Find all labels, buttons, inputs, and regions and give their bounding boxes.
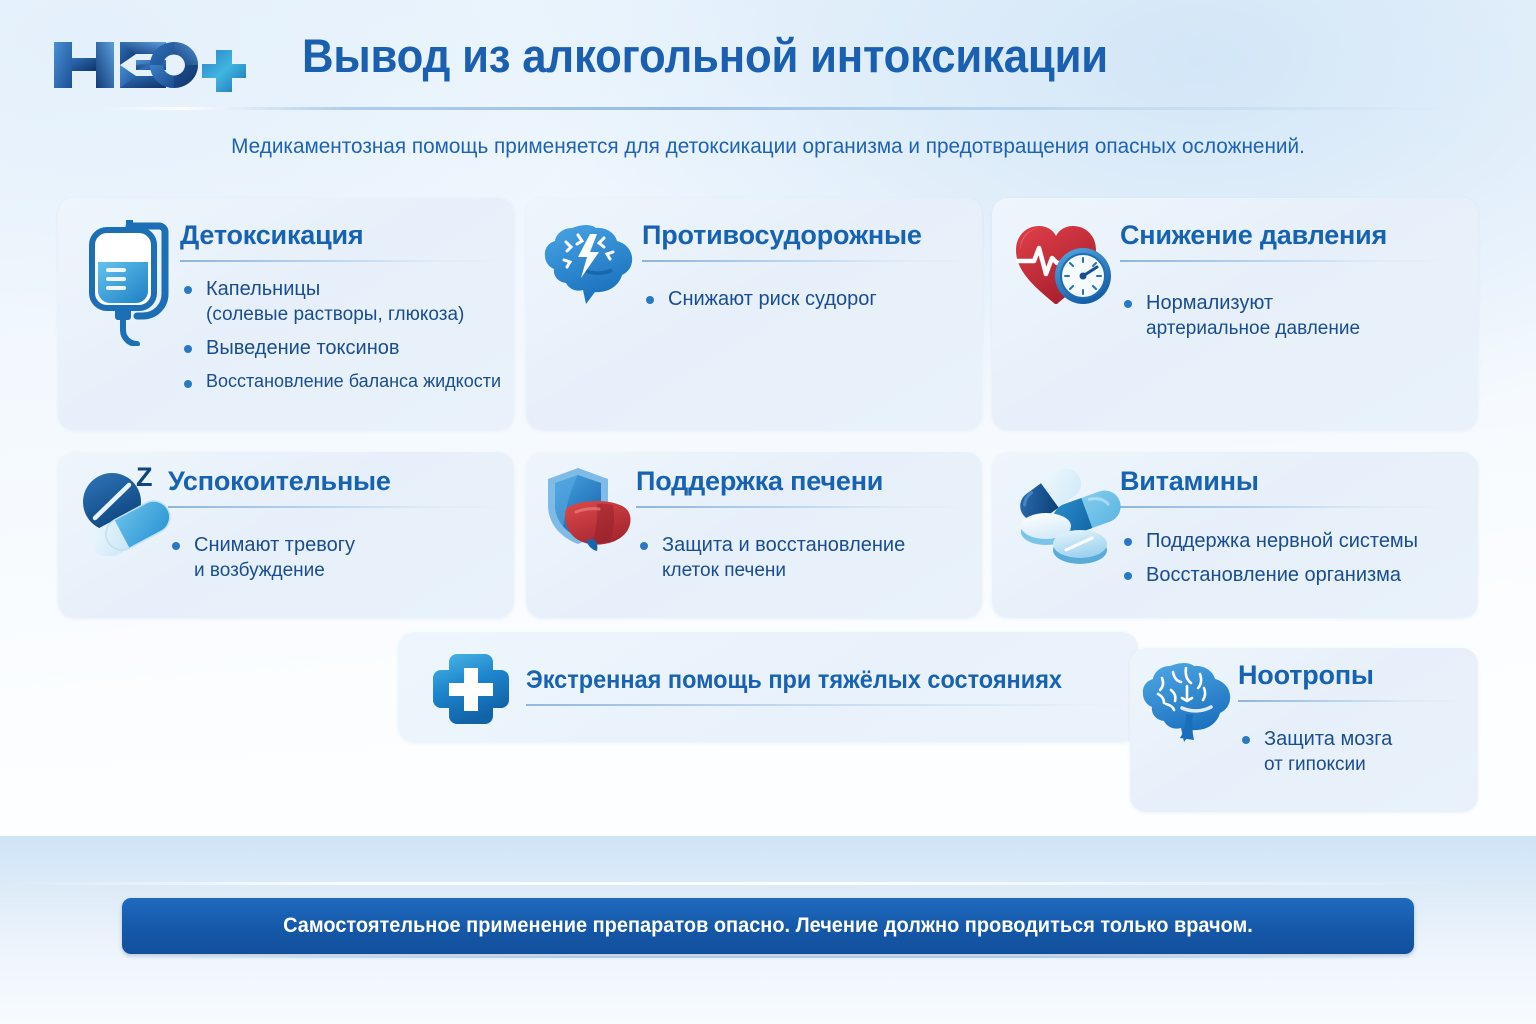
card-sedatives[interactable]: Z Успокоительные Снимают тревогу и возбу… [58, 452, 514, 618]
list-item: Снижают риск судорог [642, 286, 972, 312]
card-divider [1120, 260, 1454, 262]
card-anticonvulsants[interactable]: Противосудорожные Снижают риск судорог [526, 198, 982, 430]
warning-text: Самостоятельное применение препаратов оп… [154, 898, 1381, 954]
list-item: Нормализуют артериальное давление [1120, 290, 1460, 341]
card-title: Противосудорожные [642, 220, 922, 251]
page-subtitle: Медикаментозная помощь применяется для д… [27, 134, 1509, 159]
medical-cross-icon [430, 652, 512, 731]
card-vitamins[interactable]: Витамины Поддержка нервной системы Восст… [992, 452, 1478, 618]
header-divider [100, 107, 1460, 110]
card-title: Детоксикация [180, 220, 363, 251]
card-title: Успокоительные [168, 466, 391, 497]
card-bullets: Снижают риск судорог [642, 286, 972, 320]
card-title: Снижение давления [1120, 220, 1387, 251]
card-blood-pressure[interactable]: Снижение давления Нормализуют артериальн… [992, 198, 1478, 430]
emergency-divider [526, 704, 1126, 706]
card-divider [642, 260, 978, 262]
brain-lightning-icon [542, 216, 646, 321]
shield-liver-icon [540, 462, 644, 563]
warning-banner: Самостоятельное применение препаратов оп… [122, 898, 1414, 954]
page-header: Вывод из алкогольной интоксикации [50, 26, 1486, 108]
page-title: Вывод из алкогольной интоксикации [302, 28, 1108, 83]
list-item: Капельницы (солевые растворы, глюкоза) [180, 276, 510, 327]
pills-icon [998, 458, 1124, 573]
card-bullets: Капельницы (солевые растворы, глюкоза) В… [180, 276, 510, 402]
brand-logo [50, 34, 248, 96]
card-liver-support[interactable]: Поддержка печени Защита и восстановление… [526, 452, 982, 618]
card-bullets: Поддержка нервной системы Восстановление… [1120, 528, 1466, 597]
emergency-label: Экстренная помощь при тяжёлых состояниях [526, 666, 1062, 695]
list-item: Восстановление баланса жидкости [180, 370, 510, 394]
card-bullets: Снимают тревогу и возбуждение [168, 532, 508, 591]
card-title: Поддержка печени [636, 466, 883, 497]
card-bullets: Защита и восстановление клеток печени [636, 532, 982, 591]
list-item: Выведение токсинов [180, 335, 510, 361]
list-item: Защита и восстановление клеток печени [636, 532, 982, 583]
card-divider [168, 506, 512, 508]
list-item: Защита мозга от гипоксии [1238, 726, 1470, 777]
list-item: Восстановление организма [1120, 562, 1466, 588]
card-nootropics[interactable]: Ноотропы Защита мозга от гипоксии [1130, 648, 1478, 812]
svg-text:Z: Z [136, 462, 153, 492]
card-title: Ноотропы [1238, 660, 1374, 691]
brain-icon [1142, 656, 1238, 753]
list-item: Снимают тревогу и возбуждение [168, 532, 508, 583]
card-divider [636, 506, 980, 508]
card-divider [1120, 506, 1456, 508]
heart-pressure-icon [1010, 216, 1120, 329]
card-detoxification[interactable]: Детоксикация Капельницы (солевые раствор… [58, 198, 514, 430]
card-bullets: Нормализуют артериальное давление [1120, 290, 1460, 349]
card-divider [180, 260, 512, 262]
iv-drip-icon [82, 216, 194, 351]
sleeping-pill-icon: Z [74, 460, 178, 561]
card-title: Витамины [1120, 466, 1259, 497]
card-bullets: Защита мозга от гипоксии [1238, 726, 1470, 785]
list-item: Поддержка нервной системы [1120, 528, 1466, 554]
card-divider [1238, 700, 1470, 702]
emergency-help-bar[interactable]: Экстренная помощь при тяжёлых состояниях [398, 632, 1138, 742]
